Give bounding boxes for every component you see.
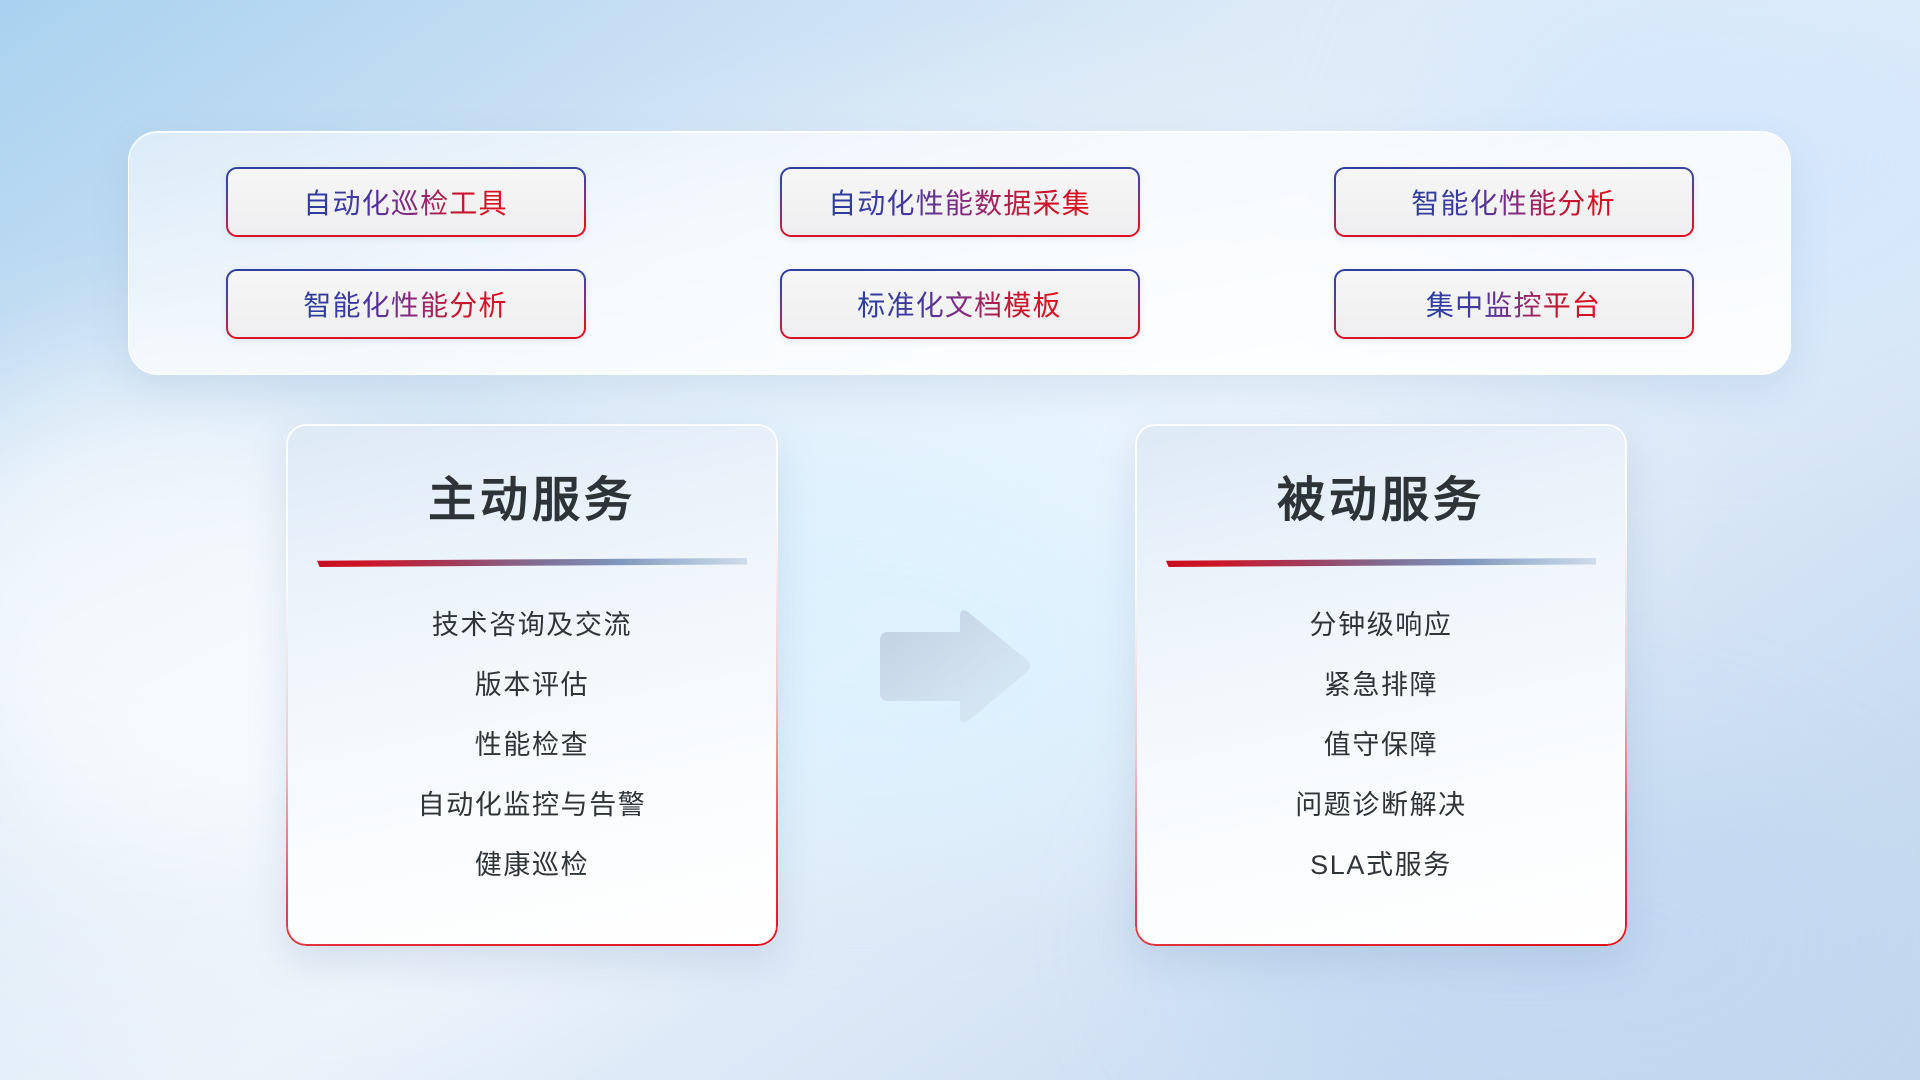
- card-divider: [1166, 558, 1596, 567]
- service-list-item: 健康巡检: [475, 843, 589, 882]
- capability-pill-automated-performance-data-collection[interactable]: 自动化性能数据采集: [780, 167, 1140, 237]
- pill-surface: 智能化性能分析: [228, 271, 584, 337]
- capability-pill-intelligent-performance-analysis-top[interactable]: 智能化性能分析: [1334, 167, 1694, 237]
- service-list-item: SLA式服务: [1310, 843, 1452, 882]
- service-list-item: 性能检查: [475, 723, 589, 762]
- card-title: 被动服务: [1135, 424, 1627, 530]
- card-divider: [317, 558, 747, 567]
- arrow-right-icon: [874, 607, 1034, 729]
- capability-pill-grid: 自动化巡检工具 自动化性能数据采集 智能化性能分析 智能化性能分析: [197, 158, 1722, 348]
- service-item-list: 分钟级响应 紧急排障 值守保障 问题诊断解决 SLA式服务: [1135, 603, 1627, 882]
- service-list-item: 技术咨询及交流: [432, 603, 632, 642]
- capability-pill-label: 自动化性能数据采集: [828, 182, 1091, 222]
- capability-pill-centralized-monitoring-platform[interactable]: 集中监控平台: [1334, 269, 1694, 339]
- capability-pill-label: 智能化性能分析: [1411, 182, 1615, 222]
- service-item-list: 技术咨询及交流 版本评估 性能检查 自动化监控与告警 健康巡检: [286, 603, 778, 882]
- capability-pill-standardized-document-template[interactable]: 标准化文档模板: [780, 269, 1140, 339]
- pill-surface: 集中监控平台: [1336, 271, 1692, 337]
- pill-surface: 自动化性能数据采集: [782, 169, 1138, 235]
- pill-surface: 智能化性能分析: [1336, 169, 1692, 235]
- capability-pill-panel: 自动化巡检工具 自动化性能数据采集 智能化性能分析 智能化性能分析: [128, 131, 1791, 375]
- service-list-item: 紧急排障: [1324, 663, 1438, 702]
- capability-pill-intelligent-performance-analysis-bottom[interactable]: 智能化性能分析: [226, 269, 586, 339]
- service-list-item: 值守保障: [1324, 723, 1438, 762]
- capability-pill-label: 自动化巡检工具: [303, 182, 507, 222]
- service-card-reactive[interactable]: 被动服务 分钟级响应 紧急排障 值守保障 问题诊断解决 SLA式服务: [1135, 424, 1627, 946]
- diagram-canvas: 自动化巡检工具 自动化性能数据采集 智能化性能分析 智能化性能分析: [0, 0, 1920, 1080]
- flow-arrow: [874, 607, 1034, 729]
- pill-surface: 标准化文档模板: [782, 271, 1138, 337]
- card-title: 主动服务: [286, 424, 778, 530]
- capability-pill-automated-inspection-tool[interactable]: 自动化巡检工具: [226, 167, 586, 237]
- service-list-item: 版本评估: [475, 663, 589, 702]
- service-card-proactive[interactable]: 主动服务 技术咨询及交流 版本评估 性能检查 自动化监控与告警 健康巡检: [286, 424, 778, 946]
- service-list-item: 问题诊断解决: [1295, 783, 1467, 822]
- capability-pill-label: 集中监控平台: [1426, 284, 1601, 324]
- capability-pill-label: 标准化文档模板: [857, 284, 1061, 324]
- pill-surface: 自动化巡检工具: [228, 169, 584, 235]
- service-list-item: 自动化监控与告警: [418, 783, 647, 822]
- capability-pill-label: 智能化性能分析: [303, 284, 507, 324]
- service-list-item: 分钟级响应: [1310, 603, 1453, 642]
